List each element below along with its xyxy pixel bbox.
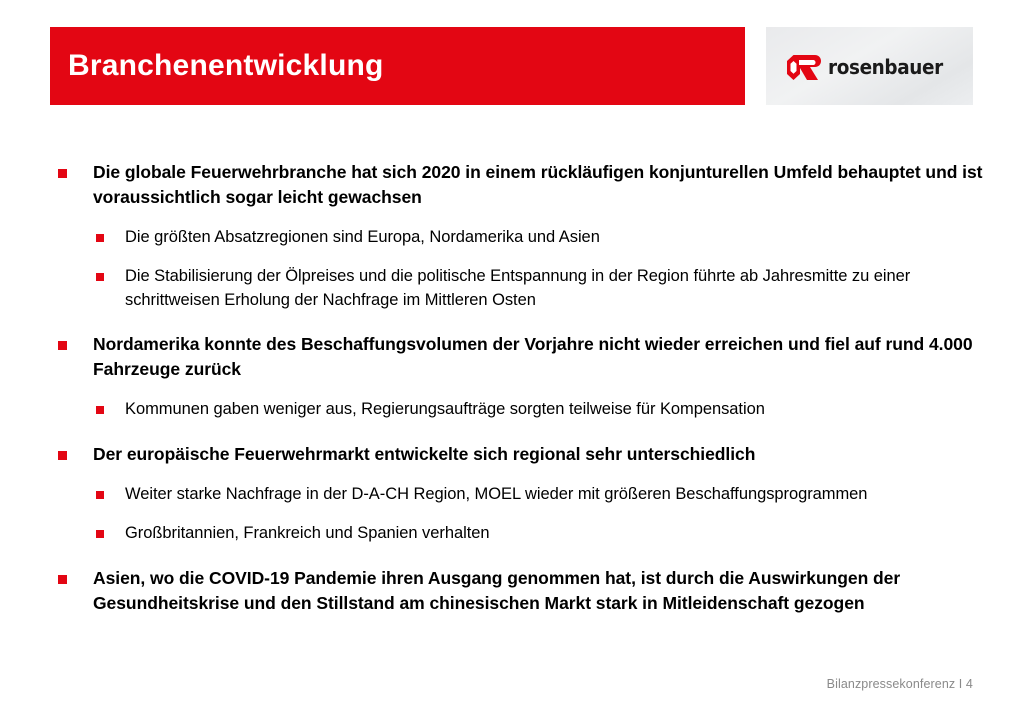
bullet-level2: Weiter starke Nachfrage in der D-A-CH Re… xyxy=(0,483,1024,507)
slide-header: Branchenentwicklung rosenbauer xyxy=(0,0,1024,118)
bullet-marker-icon xyxy=(58,451,67,460)
bullet-marker-icon xyxy=(96,530,104,538)
bullet-marker-icon xyxy=(96,273,104,281)
logo-wordmark: rosenbauer xyxy=(828,57,943,77)
title-banner: Branchenentwicklung xyxy=(50,27,745,105)
bullet-text: Großbritannien, Frankreich und Spanien v… xyxy=(125,522,489,546)
spacer xyxy=(0,256,1024,265)
bullet-level1: Asien, wo die COVID-19 Pandemie ihren Au… xyxy=(0,566,1024,616)
spacer xyxy=(0,217,1024,226)
logo-inner: rosenbauer xyxy=(787,55,953,80)
bullet-text: Kommunen gaben weniger aus, Regierungsau… xyxy=(125,398,765,422)
bullet-text: Die Stabilisierung der Ölpreises und die… xyxy=(125,265,984,312)
spacer xyxy=(0,553,1024,566)
bullet-marker-icon xyxy=(96,406,104,414)
spacer xyxy=(0,389,1024,398)
bullet-level1: Die globale Feuerwehrbranche hat sich 20… xyxy=(0,160,1024,210)
slide-footer: Bilanzpressekonferenz I 4 xyxy=(827,677,973,691)
spacer xyxy=(0,429,1024,442)
rosenbauer-r-mark-icon xyxy=(787,55,821,80)
bullet-marker-icon xyxy=(96,491,104,499)
spacer xyxy=(0,319,1024,332)
bullet-marker-icon xyxy=(58,341,67,350)
bullet-marker-icon xyxy=(58,169,67,178)
bullet-level2: Großbritannien, Frankreich und Spanien v… xyxy=(0,522,1024,546)
bullet-text: Die globale Feuerwehrbranche hat sich 20… xyxy=(93,160,984,210)
spacer xyxy=(0,513,1024,522)
bullet-text: Nordamerika konnte des Beschaffungsvolum… xyxy=(93,332,984,382)
bullet-marker-icon xyxy=(58,575,67,584)
brand-logo: rosenbauer xyxy=(766,27,973,105)
bullet-level2: Die Stabilisierung der Ölpreises und die… xyxy=(0,265,1024,312)
slide-body: Die globale Feuerwehrbranche hat sich 20… xyxy=(0,160,1024,622)
bullet-text: Weiter starke Nachfrage in der D-A-CH Re… xyxy=(125,483,867,507)
bullet-text: Der europäische Feuerwehrmarkt entwickel… xyxy=(93,442,755,467)
spacer xyxy=(0,474,1024,483)
page-title: Branchenentwicklung xyxy=(50,51,384,81)
bullet-level2: Die größten Absatzregionen sind Europa, … xyxy=(0,226,1024,250)
bullet-level1: Der europäische Feuerwehrmarkt entwickel… xyxy=(0,442,1024,467)
bullet-text: Die größten Absatzregionen sind Europa, … xyxy=(125,226,600,250)
bullet-text: Asien, wo die COVID-19 Pandemie ihren Au… xyxy=(93,566,984,616)
bullet-level1: Nordamerika konnte des Beschaffungsvolum… xyxy=(0,332,1024,382)
bullet-level2: Kommunen gaben weniger aus, Regierungsau… xyxy=(0,398,1024,422)
bullet-marker-icon xyxy=(96,234,104,242)
